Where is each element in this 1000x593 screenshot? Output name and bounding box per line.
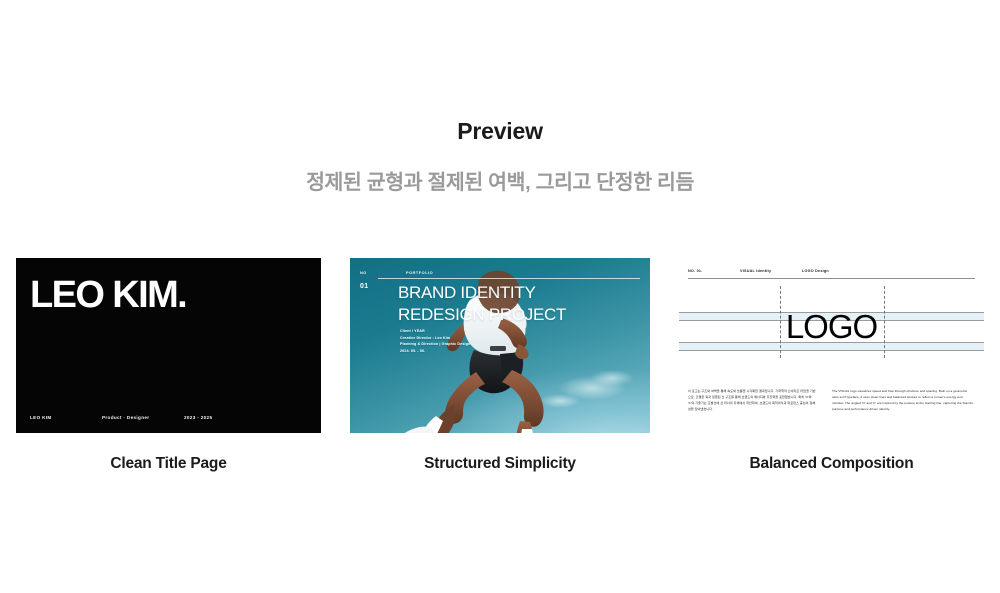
slide3-logo-word: LOGO (679, 310, 984, 343)
slide3-label-logo: LOGO Design (802, 269, 829, 273)
slide1-footer-years: 2023 - 2025 (184, 415, 212, 420)
page-header: Preview 정제된 균형과 절제된 여백, 그리고 단정한 리듬 (0, 0, 1000, 196)
slide3-paragraph-korean: 이 로고는 구조와 여백을 통해 속도와 흐름을 시각화한 결과입니다. 기하학… (688, 388, 816, 412)
slide2-heading: BRAND IDENTITY REDESIGN PROJECT (398, 282, 644, 326)
slide1-big-name: LEO KIM. (30, 276, 186, 314)
slide3-divider (688, 278, 975, 279)
slide-thumbnail-black-title[interactable]: LEO KIM. LEO KIM Product · Designer 2023… (16, 258, 321, 433)
slide3-header: NO. 01. VISUAL Identity LOGO Design (688, 269, 975, 273)
preview-card-caption: Balanced Composition (750, 455, 914, 473)
slide2-header: NO PORTFOLIO (360, 270, 640, 275)
slide2-number: 01 (360, 283, 368, 290)
slide-thumbnail-logo-layout[interactable]: NO. 01. VISUAL Identity LOGO Design LOGO… (679, 258, 984, 433)
preview-card-clean-title-page[interactable]: LEO KIM. LEO KIM Product · Designer 2023… (16, 258, 321, 473)
page-title: Preview (0, 118, 1000, 146)
slide2-credit-line: Planning & Direction | Graphic Design (400, 341, 470, 348)
preview-card-caption: Clean Title Page (110, 455, 226, 473)
slide1-footer-name: LEO KIM (30, 415, 102, 420)
slide3-paragraph-english: The VISUAL logo visualizes speed and flo… (832, 388, 974, 412)
slide2-credits: Client / YEAR Creative Director : Leo Ki… (400, 328, 470, 355)
slide2-label-no: NO (360, 270, 406, 275)
slide3-label-visual: VISUAL Identity (740, 269, 802, 273)
preview-card-balanced-composition[interactable]: NO. 01. VISUAL Identity LOGO Design LOGO… (679, 258, 984, 473)
slide-thumbnail-teal-photo[interactable]: NO PORTFOLIO 01 BRAND IDENTITY REDESIGN … (350, 258, 650, 433)
slide3-label-no: NO. 01. (688, 269, 740, 273)
slide2-heading-line2: REDESIGN PROJECT (398, 304, 644, 326)
slide2-label-section: PORTFOLIO (406, 270, 433, 275)
preview-card-caption: Structured Simplicity (424, 455, 576, 473)
slide2-credit-line: Client / YEAR (400, 328, 470, 335)
slide2-heading-line1: BRAND IDENTITY (398, 282, 644, 304)
preview-page: Preview 정제된 균형과 절제된 여백, 그리고 단정한 리듬 LEO K… (0, 0, 1000, 593)
slide1-footer: LEO KIM Product · Designer 2023 - 2025 (30, 415, 212, 420)
preview-card-structured-simplicity[interactable]: NO PORTFOLIO 01 BRAND IDENTITY REDESIGN … (350, 258, 650, 473)
slide2-credit-line: 2024. 05. - 06. (400, 348, 470, 355)
preview-card-list: LEO KIM. LEO KIM Product · Designer 2023… (0, 258, 1000, 473)
slide2-credit-line: Creative Director : Leo Kim (400, 335, 470, 342)
slide1-footer-role: Product · Designer (102, 415, 184, 420)
slide2-divider (378, 278, 640, 279)
page-subtitle: 정제된 균형과 절제된 여백, 그리고 단정한 리듬 (0, 170, 1000, 197)
